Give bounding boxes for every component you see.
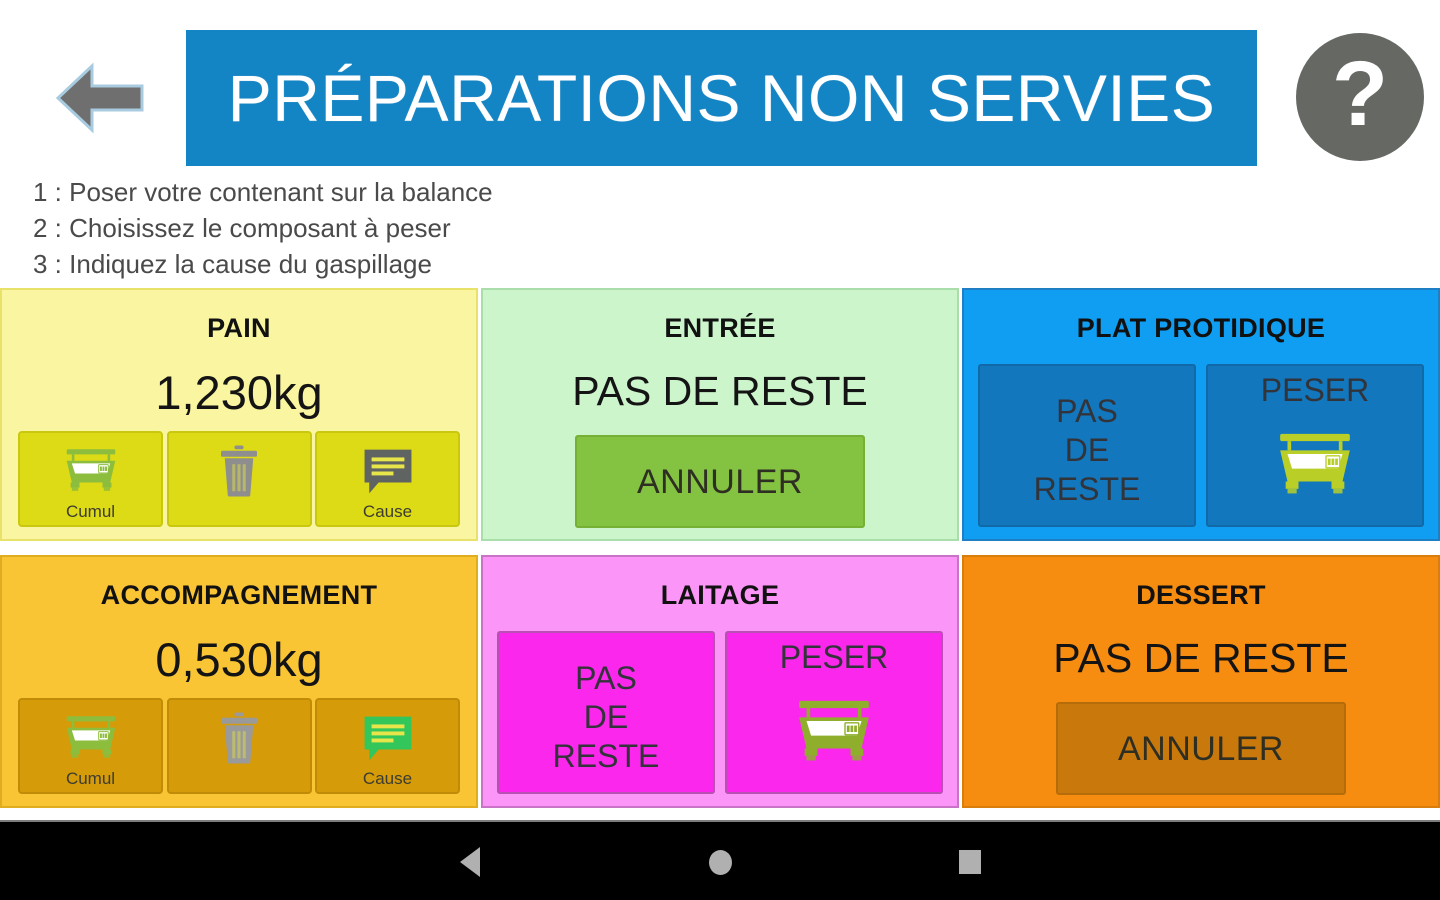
cancel-button-label: ANNULER [637,465,803,499]
weigh-button[interactable]: PESER [1206,364,1424,527]
card-title: PAIN [207,315,271,342]
component-card-laitage: LAITAGEPASDERESTEPESER [481,555,959,808]
card-title: DESSERT [1136,582,1266,609]
delete-button[interactable] [167,431,312,527]
no-rest-label-line: PAS [1034,392,1141,431]
scale-icon [59,448,123,494]
cumul-button-label: Cumul [20,503,161,520]
app-root: PRÉPARATIONS NON SERVIES ? 1 : Poser vot… [0,0,1440,900]
cause-button-label: Cause [317,770,458,787]
scale-icon [59,441,123,501]
nav-home-circle-icon [709,850,732,875]
cancel-button[interactable]: ANNULER [1056,702,1346,795]
no-rest-label-line: DE [553,698,660,737]
weigh-button[interactable]: PESER [725,631,943,794]
no-rest-button-label: PASDERESTE [553,659,660,776]
scale-icon [1269,432,1361,503]
instructions-list: 1 : Poser votre contenant sur la balance… [33,174,933,282]
card-weight-value: 1,230kg [155,369,322,416]
no-rest-label-line: PAS [553,659,660,698]
component-card-dessert: DESSERTPAS DE RESTEANNULER [962,555,1440,808]
scale-icon [788,699,880,770]
card-status-text: PAS DE RESTE [1053,638,1348,679]
card-choice-row: PASDERESTEPESER [497,631,943,794]
page-title: PRÉPARATIONS NON SERVIES [228,65,1216,131]
no-rest-button-label: PASDERESTE [1034,392,1141,509]
comment-icon [363,441,413,501]
instruction-step-1: 1 : Poser votre contenant sur la balance [33,174,933,210]
scale-icon [59,715,123,761]
comment-icon [363,448,413,495]
card-title: ENTRÉE [664,315,775,342]
no-rest-button[interactable]: PASDERESTE [978,364,1196,527]
arrow-left-glyph [52,60,148,136]
nav-recents-square-icon [959,850,981,874]
cancel-button-label: ANNULER [1118,732,1284,766]
trash-icon [218,711,260,765]
component-card-entree: ENTRÉEPAS DE RESTEANNULER [481,288,959,541]
cause-button[interactable]: Cause [315,431,460,527]
component-card-plat-protidique: PLAT PROTIDIQUEPASDERESTEPESER [962,288,1440,541]
cumul-button[interactable]: Cumul [18,698,163,794]
help-button[interactable]: ? [1296,33,1424,161]
nav-recents-button[interactable] [910,822,1030,900]
card-action-row: Cumul Cause [18,698,460,794]
nav-back-triangle-icon [460,847,480,877]
scale-icon [59,708,123,768]
nav-home-button[interactable] [660,822,780,900]
weigh-button-label: PESER [780,641,888,673]
cumul-button-label: Cumul [20,770,161,787]
component-card-accompagnement: ACCOMPAGNEMENT0,530kg Cumul [0,555,478,808]
card-title: PLAT PROTIDIQUE [1077,315,1326,342]
card-status-text: PAS DE RESTE [572,371,867,412]
no-rest-label-line: DE [1034,431,1141,470]
android-navigation-bar [0,820,1440,900]
card-weight-value: 0,530kg [155,636,322,683]
card-choice-row: PASDERESTEPESER [978,364,1424,527]
trash-icon [218,708,260,768]
component-card-grid: PAIN1,230kg Cumul CauseENT [0,288,1440,814]
cause-button-label: Cause [317,503,458,520]
trash-icon [218,444,260,498]
instruction-step-2: 2 : Choisissez le composant à peser [33,210,933,246]
cancel-button[interactable]: ANNULER [575,435,865,528]
question-mark-icon: ? [1332,48,1388,140]
weigh-button-label: PESER [1261,374,1369,406]
no-rest-label-line: RESTE [1034,470,1141,509]
comment-icon [363,708,413,768]
delete-button[interactable] [167,698,312,794]
card-title: ACCOMPAGNEMENT [101,582,378,609]
trash-icon [218,441,260,501]
component-card-pain: PAIN1,230kg Cumul Cause [0,288,478,541]
no-rest-button[interactable]: PASDERESTE [497,631,715,794]
card-title: LAITAGE [661,582,780,609]
instruction-step-3: 3 : Indiquez la cause du gaspillage [33,246,933,282]
title-bar: PRÉPARATIONS NON SERVIES [186,30,1257,166]
comment-icon [363,715,413,762]
cause-button[interactable]: Cause [315,698,460,794]
screen-header: PRÉPARATIONS NON SERVIES ? [0,0,1440,172]
scale-icon [788,699,880,765]
scale-icon [1269,432,1361,498]
no-rest-label-line: RESTE [553,737,660,776]
cumul-button[interactable]: Cumul [18,431,163,527]
back-arrow-icon[interactable] [52,60,148,136]
nav-back-button[interactable] [410,822,530,900]
card-action-row: Cumul Cause [18,431,460,527]
